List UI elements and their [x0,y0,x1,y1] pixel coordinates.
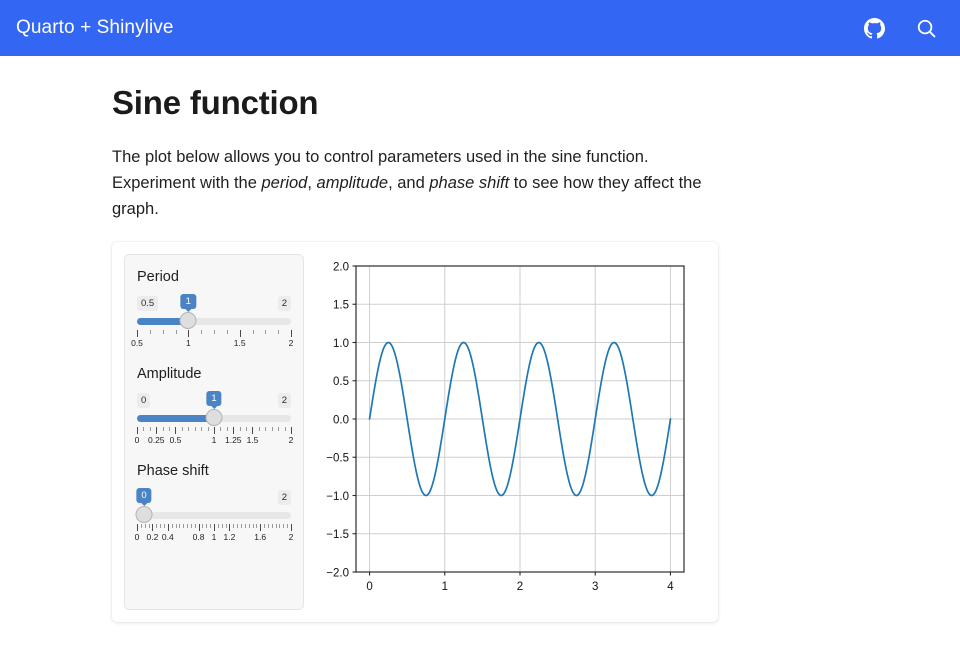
slider-tick [202,524,203,528]
x-tick-label: 2 [517,581,523,593]
slider-tick-label: 2 [289,532,294,542]
emphasis-phase-shift: phase shift [429,174,509,192]
slider-tick-label: 1.6 [254,532,266,542]
slider-tick [237,524,238,528]
slider-max-label-period: 2 [278,296,291,311]
slider-tick [156,524,157,528]
slider-tick [141,524,142,528]
slider-max-label-amplitude: 2 [278,393,291,408]
slider-tick [150,330,151,334]
slider-tick [220,427,221,431]
navbar: Quarto + Shinylive [0,0,960,56]
slider-tick [149,524,150,528]
slider-tick [241,524,242,528]
slider-tick [291,427,292,434]
slider-tick [137,524,138,531]
slider-tick [163,427,164,431]
slider-tick [160,524,161,528]
slider-tick [233,427,234,434]
y-tick-label: 2.0 [333,261,349,273]
emphasis-amplitude: amplitude [317,174,389,192]
slider-tick-labels-phase-shift: 00.20.40.811.21.62 [137,532,291,544]
slider-tick [222,524,223,528]
search-icon[interactable] [914,16,938,40]
slider-tick-label: 2 [289,435,294,445]
slider-tick [145,524,146,528]
page-body: Sine function The plot below allows you … [0,56,960,649]
slider-tick [179,524,180,528]
x-tick-label: 1 [442,581,448,593]
slider-tick [245,524,246,528]
y-tick-label: 1.5 [333,300,349,312]
slider-tick-labels-amplitude: 00.250.511.251.52 [137,435,291,447]
slider-tick [285,427,286,431]
slider-tick-label: 0.2 [146,532,158,542]
slider-tick [272,427,273,431]
slider-value-row-amplitude: 012 [137,391,291,408]
slider-min-label-period: 0.5 [137,296,158,311]
slider-ticks-phase-shift [137,524,291,531]
slider-tick [176,330,177,334]
paragraph-part-3: , and [388,174,429,192]
slider-tick-label: 1 [212,532,217,542]
slider-handle-amplitude[interactable] [206,409,223,426]
slider-tick [253,524,254,528]
slider-tick [291,330,292,337]
slider-tick [191,524,192,528]
slider-tick [283,524,284,528]
slider-tick [249,524,250,528]
slider-tick [246,427,247,431]
x-tick-label: 0 [366,581,372,593]
page-title: Sine function [112,84,732,122]
slider-tick [183,524,184,528]
slider-tick [276,524,277,528]
slider-handle-phase-shift[interactable] [136,506,153,523]
slider-tick [182,427,183,431]
slider-ticks-amplitude [137,427,291,434]
slider-value-bubble-amplitude: 1 [206,391,221,406]
slider-tick [195,427,196,431]
slider-tick-label: 1.5 [234,338,246,348]
slider-group-period: Period0.5120.511.52 [137,269,291,350]
y-tick-label: −2.0 [326,567,349,579]
slider-tick [188,427,189,431]
slider-tick [229,524,230,531]
slider-tick [226,524,227,528]
content-column: Sine function The plot below allows you … [112,84,732,622]
slider-tick [150,427,151,431]
slider-tick [253,330,254,334]
slider-tick [256,524,257,528]
slider-group-amplitude: Amplitude01200.250.511.251.52 [137,366,291,447]
slider-tick [265,427,266,431]
slider-tick [268,524,269,528]
slider-tick [214,524,215,531]
slider-tick [208,427,209,431]
y-tick-label: 1.0 [333,338,349,350]
slider-tick-labels-period: 0.511.52 [137,338,291,350]
slider-tick [188,330,189,337]
slider-min-label-amplitude: 0 [137,393,150,408]
navbar-brand[interactable]: Quarto + Shinylive [16,17,174,39]
slider-tick [214,330,215,334]
slider-tick [152,524,153,531]
slider-value-bubble-period: 1 [181,294,196,309]
slider-value-row-phase-shift: 002 [137,488,291,505]
slider-tick [278,427,279,431]
slider-tick [272,524,273,528]
slider-tick-label: 0.25 [148,435,165,445]
slider-tick [214,427,215,434]
slider-value-bubble-phase-shift: 0 [136,488,151,503]
slider-tick [227,427,228,431]
x-tick-label: 4 [667,581,674,593]
slider-tick [227,330,228,334]
slider-tick [240,330,241,337]
slider-label-amplitude: Amplitude [137,366,291,382]
y-tick-label: 0.5 [333,376,349,388]
slider-tick [201,427,202,431]
slider-tick [176,524,177,528]
slider-tick [201,330,202,334]
slider-group-phase-shift: Phase shift00200.20.40.811.21.62 [137,463,291,544]
slider-max-label-phase-shift: 2 [278,490,291,505]
slider-tick [168,524,169,531]
app-card: Period0.5120.511.52Amplitude01200.250.51… [112,242,718,622]
slider-tick-label: 0.5 [131,338,143,348]
slider-tick-label: 1 [212,435,217,445]
slider-tick [137,330,138,337]
slider-tick [175,427,176,434]
slider-tick [169,427,170,431]
emphasis-period: period [261,174,307,192]
y-tick-label: −1.5 [326,529,349,541]
slider-track-phase-shift[interactable] [137,512,291,519]
x-tick-label: 3 [592,581,598,593]
slider-tick [199,524,200,531]
slider-tick-label: 0 [135,435,140,445]
slider-label-period: Period [137,269,291,285]
slider-tick [137,427,138,434]
slider-tick [195,524,196,528]
slider-tick [164,524,165,528]
slider-tick-label: 1.5 [247,435,259,445]
slider-label-phase-shift: Phase shift [137,463,291,479]
slider-tick [291,524,292,531]
paragraph-part-2: , [307,174,316,192]
slider-tick-label: 2 [289,338,294,348]
y-tick-label: −1.0 [326,491,349,503]
controls-sidebar: Period0.5120.511.52Amplitude01200.250.51… [124,254,304,610]
sine-plot: −2.0−1.5−1.0−0.50.00.51.01.52.001234 [310,254,690,606]
slider-tick-label: 1 [186,338,191,348]
slider-tick [218,524,219,528]
slider-tick-label: 0.4 [162,532,174,542]
github-icon[interactable] [862,16,886,40]
slider-tick-label: 0.5 [170,435,182,445]
slider-tick [143,427,144,431]
slider-handle-period[interactable] [180,312,197,329]
slider-tick [260,524,261,531]
slider-tick [156,427,157,434]
slider-tick [259,427,260,431]
slider-tick-label: 0 [135,532,140,542]
slider-tick [163,330,164,334]
slider-tick-label: 1.25 [225,435,242,445]
slider-tick-label: 1.2 [223,532,235,542]
slider-tick [264,524,265,528]
slider-value-row-period: 0.512 [137,294,291,311]
intro-paragraph: The plot below allows you to control par… [112,144,712,222]
slider-tick [233,524,234,528]
slider-tick-label: 0.8 [193,532,205,542]
slider-tick [287,524,288,528]
slider-tick [252,427,253,434]
slider-tick [206,524,207,528]
slider-tick [210,524,211,528]
slider-tick [172,524,173,528]
slider-tick [265,330,266,334]
navbar-tools [862,16,938,40]
plot-panel: −2.0−1.5−1.0−0.50.00.51.01.52.001234 [304,254,706,610]
slider-tick [279,524,280,528]
slider-fill-amplitude [137,415,214,422]
slider-phase-shift[interactable] [137,507,291,523]
slider-tick [187,524,188,528]
slider-period[interactable] [137,313,291,329]
y-tick-label: 0.0 [333,414,349,426]
slider-tick [278,330,279,334]
slider-tick [240,427,241,431]
slider-amplitude[interactable] [137,410,291,426]
slider-ticks-period [137,330,291,337]
y-tick-label: −0.5 [326,453,349,465]
